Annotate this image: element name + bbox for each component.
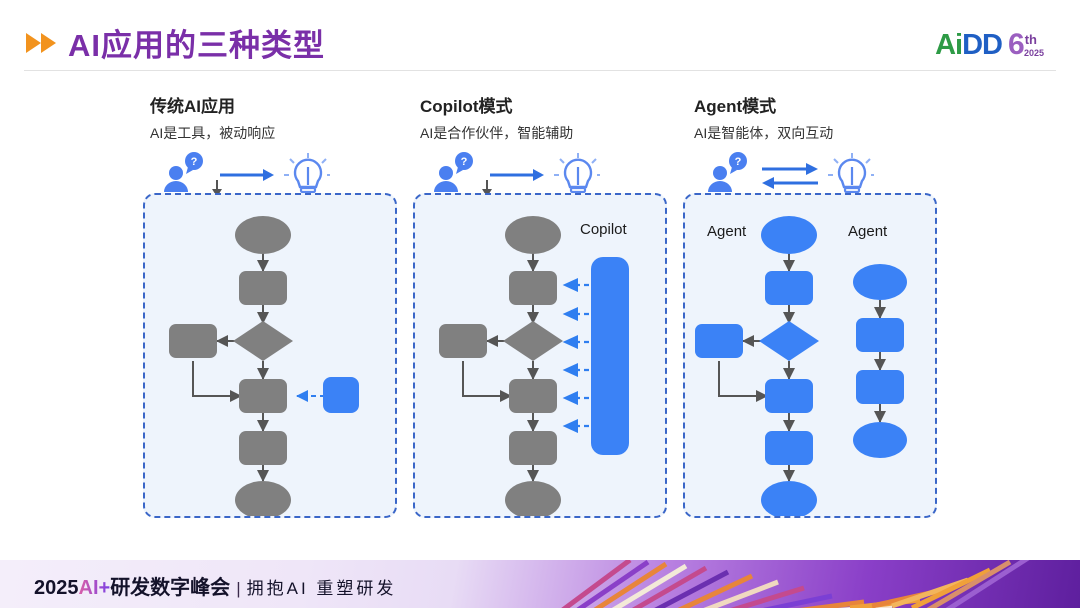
column-title: 传统AI应用 (150, 92, 450, 117)
footer-summit-name: 研发数字峰会 (110, 571, 230, 600)
column-subtitle: AI是智能体，双向互动 (694, 123, 994, 143)
flow-node-branch[interactable] (439, 324, 487, 358)
page-title: AI应用的三种类型 (68, 20, 325, 65)
agent-label-right: Agent (848, 223, 887, 240)
flow-node-decision[interactable] (503, 321, 563, 361)
logo-ai-text: Ai (935, 31, 962, 60)
flow-node-process-2[interactable] (239, 431, 287, 465)
flowchart-traditional (145, 195, 395, 516)
agent-label-left: Agent (707, 223, 746, 240)
ai-tool-node[interactable] (323, 377, 359, 413)
double-triangle-right-icon (26, 32, 60, 54)
flow2-node-start[interactable] (853, 264, 907, 300)
flowchart-agent (685, 195, 935, 516)
column-title: Agent模式 (694, 92, 994, 117)
footer-text: 2025 AI+ 研发数字峰会 | 拥抱AI 重塑研发 (34, 571, 396, 600)
svg-text:?: ? (735, 156, 742, 168)
logo-year-text: 2025 (1024, 49, 1044, 58)
header-divider (24, 70, 1056, 71)
flow-node-merge[interactable] (765, 379, 813, 413)
logo-th-text: th (1025, 33, 1037, 46)
flow-node-decision[interactable] (233, 321, 293, 361)
footer-aiplus: AI+ (79, 577, 111, 600)
flow-node-process-2[interactable] (509, 431, 557, 465)
flow-node-process[interactable] (765, 271, 813, 305)
column-title: Copilot模式 (420, 92, 720, 117)
panel-agent[interactable]: Agent Agent (683, 193, 937, 518)
svg-text:?: ? (461, 156, 468, 168)
flow-node-branch[interactable] (695, 324, 743, 358)
column-subtitle: AI是工具，被动响应 (150, 123, 450, 143)
footer-divider: | (236, 579, 240, 599)
flow-node-process[interactable] (239, 271, 287, 305)
footer-ribbon-decoration (520, 560, 1080, 608)
flow-node-process[interactable] (509, 271, 557, 305)
header: AI应用的三种类型 Ai DD 6 th 2025 (0, 0, 1080, 78)
logo-six-text: 6 (1008, 30, 1025, 60)
panel-copilot[interactable]: Copilot (413, 193, 667, 518)
copilot-bar[interactable] (591, 257, 629, 455)
flow-node-process-2[interactable] (765, 431, 813, 465)
flow-node-branch[interactable] (169, 324, 217, 358)
logo-dd-text: DD (962, 31, 1002, 60)
flow-node-merge[interactable] (509, 379, 557, 413)
flow-node-start[interactable] (505, 216, 561, 254)
aidd-logo: Ai DD 6 th 2025 (935, 20, 1044, 60)
flow-node-end[interactable] (761, 481, 817, 516)
flow2-node-end[interactable] (853, 422, 907, 458)
footer: 2025 AI+ 研发数字峰会 | 拥抱AI 重塑研发 (0, 560, 1080, 608)
flow-node-start[interactable] (235, 216, 291, 254)
flow-node-start[interactable] (761, 216, 817, 254)
flow2-node-process-2[interactable] (856, 370, 904, 404)
flow-node-end[interactable] (235, 481, 291, 516)
svg-text:?: ? (191, 156, 198, 168)
flowchart-copilot (415, 195, 665, 516)
flow-node-end[interactable] (505, 481, 561, 516)
panel-traditional-ai[interactable] (143, 193, 397, 518)
arrow-right-icon (762, 163, 818, 175)
flow-node-decision[interactable] (759, 321, 819, 361)
flow-node-merge[interactable] (239, 379, 287, 413)
flow2-node-process[interactable] (856, 318, 904, 352)
footer-year: 2025 (34, 577, 79, 600)
column-subtitle: AI是合作伙伴，智能辅助 (420, 123, 720, 143)
footer-slogan: 拥抱AI 重塑研发 (247, 574, 397, 599)
copilot-label: Copilot (580, 221, 627, 238)
